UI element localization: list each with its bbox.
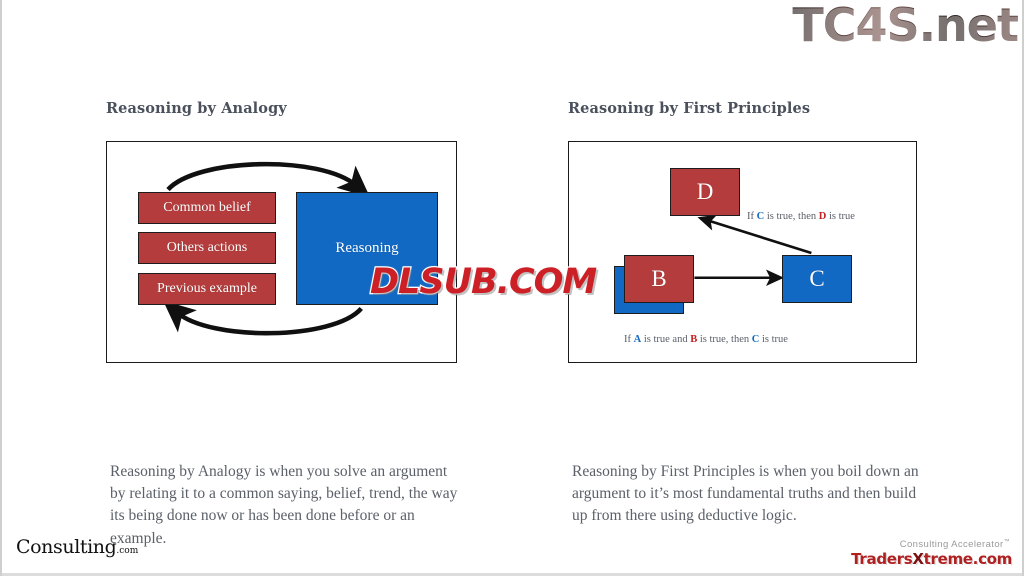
column-reasoning-by-first-principles: Reasoning by First Principles D A — [568, 100, 918, 363]
analogy-source-box-common-belief[interactable]: Common belief — [138, 192, 276, 224]
analogy-source-box-others-actions[interactable]: Others actions — [138, 232, 276, 264]
column-reasoning-by-analogy: Reasoning by Analogy Common belief Other… — [106, 100, 458, 363]
first-principles-box-c[interactable]: C — [782, 255, 852, 303]
cond-top-part2: is true, then — [764, 211, 819, 222]
left-column-caption: Reasoning by Analogy is when you solve a… — [110, 461, 458, 551]
cond-bottom-part4: is true — [759, 334, 788, 345]
slide-canvas: TC4S.net Reasoning by Analogy Common bel… — [0, 0, 1024, 576]
node-label-c: C — [809, 266, 824, 292]
first-principles-diagram-panel: D A B C If C is true, then D is true If … — [568, 141, 917, 363]
consulting-accelerator-label: Consulting Accelerator™ — [900, 539, 1010, 550]
consulting-logo-name: Consulting — [16, 536, 116, 558]
cond-bottom-part1: If — [624, 334, 634, 345]
node-label-d: D — [697, 179, 714, 205]
cond-bottom-part3: is true, then — [697, 334, 752, 345]
right-column-caption: Reasoning by First Principles is when yo… — [572, 461, 920, 528]
analogy-source-label: Others actions — [167, 240, 247, 256]
condition-text-a-and-b-implies-c: If A is true and B is true, then C is tr… — [624, 334, 788, 345]
cond-top-part3: is true — [826, 211, 855, 222]
node-label-b: B — [651, 266, 666, 292]
analogy-diagram-panel: Common belief Others actions Previous ex… — [106, 141, 457, 363]
first-principles-box-b[interactable]: B — [624, 255, 694, 303]
trademark-mark: ™ — [1004, 539, 1010, 545]
traders-part-x: X — [912, 550, 923, 568]
accelerator-text: Consulting Accelerator — [900, 539, 1004, 550]
traders-part1: Traders — [851, 550, 912, 568]
first-principles-box-d[interactable]: D — [670, 168, 740, 216]
left-column-title: Reasoning by Analogy — [106, 100, 458, 117]
tradersxtreme-watermark: TradersXtreme.com — [851, 550, 1012, 568]
consulting-logo-tld: .com — [116, 546, 138, 556]
analogy-source-label: Common belief — [163, 200, 251, 216]
right-column-title: Reasoning by First Principles — [568, 100, 918, 117]
analogy-source-label: Previous example — [157, 281, 257, 297]
traders-part2: treme.com — [924, 550, 1012, 568]
cond-top-part1: If — [747, 211, 757, 222]
condition-text-c-implies-d: If C is true, then D is true — [747, 211, 855, 222]
analogy-source-box-previous-example[interactable]: Previous example — [138, 273, 276, 305]
analogy-reasoning-label: Reasoning — [335, 240, 398, 257]
first-principles-arrows — [569, 142, 916, 362]
cond-bottom-part2: is true and — [641, 334, 690, 345]
tc4s-watermark: TC4S.net — [792, 0, 1018, 52]
consulting-logo: Consulting.com — [16, 536, 138, 558]
dlsub-watermark: DLSUB.COM — [370, 262, 596, 302]
